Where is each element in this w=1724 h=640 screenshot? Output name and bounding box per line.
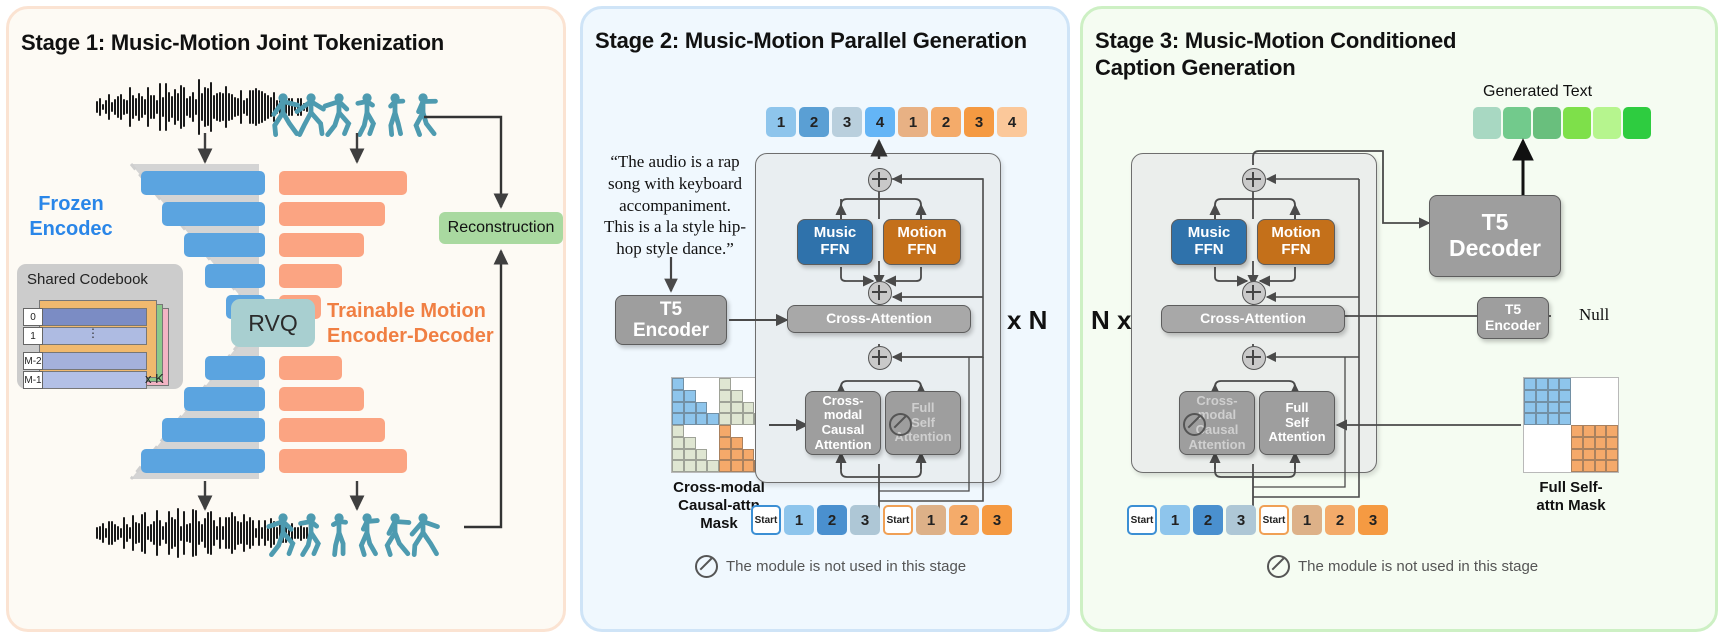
motion-token-bar xyxy=(279,264,342,288)
not-used-icon xyxy=(695,555,718,578)
motion-ffn-line2: FFN xyxy=(1281,241,1310,258)
mask-cell xyxy=(1524,449,1536,461)
stage1-panel: Stage 1: Music-Motion Joint Tokenization xyxy=(6,6,566,632)
generated-text-chip xyxy=(1473,107,1501,139)
generated-text-label: Generated Text xyxy=(1483,83,1592,101)
mask-cell xyxy=(684,390,696,402)
residual-add-mid xyxy=(1242,281,1266,305)
mask-caption-line2: attn Mask xyxy=(1483,497,1659,515)
token-chip: 1 xyxy=(766,107,796,137)
mask-cell xyxy=(707,437,719,449)
mask-cell xyxy=(1548,390,1560,402)
t5-decoder-block: T5 Decoder xyxy=(1429,195,1561,277)
mask-cell xyxy=(1571,437,1583,449)
music-waveform-bottom xyxy=(95,507,309,559)
fsa-line1: Full xyxy=(911,400,934,415)
token-chip: Start xyxy=(883,505,913,535)
cross-modal-causal-attention-block: Cross-modal Causal Attention xyxy=(805,391,881,455)
mask-cell xyxy=(672,425,684,437)
mask-cell xyxy=(1548,402,1560,414)
mask-cell xyxy=(1571,460,1583,472)
t5-encoder-line2: Encoder xyxy=(1485,317,1541,333)
mask-cell xyxy=(1583,425,1595,437)
mask-cell xyxy=(684,413,696,425)
mask-cell xyxy=(1559,413,1571,425)
mask-cell xyxy=(1595,437,1607,449)
t5-encoder-line2: Encoder xyxy=(633,320,709,341)
mask-cell xyxy=(1536,413,1548,425)
mask-cell xyxy=(1595,390,1607,402)
t5-encoder-line1: T5 xyxy=(1505,301,1521,317)
mask-cell xyxy=(1536,449,1548,461)
mask-cell xyxy=(1559,390,1571,402)
codebook-repeat-label: x K xyxy=(145,371,164,386)
mask-cell xyxy=(696,425,708,437)
fsa-line1: Full xyxy=(1285,400,1308,415)
mask-cell xyxy=(1606,449,1618,461)
mask-cell xyxy=(684,402,696,414)
trainable-motion-label: Trainable Motion Encoder-Decoder xyxy=(327,299,517,349)
mask-cell xyxy=(731,437,743,449)
t5-encoder-line1: T5 xyxy=(660,299,682,320)
cross-attention-block: Cross-Attention xyxy=(1161,305,1345,333)
t5-encoder-block: T5 Encoder xyxy=(615,295,727,345)
mask-cell xyxy=(1571,413,1583,425)
mask-cell xyxy=(1548,437,1560,449)
mask-cell xyxy=(696,413,708,425)
token-chip: 1 xyxy=(1160,505,1190,535)
motion-token-bar xyxy=(279,449,407,473)
codebook-ellipsis: ⋮ xyxy=(87,330,99,337)
codebook-index: 1 xyxy=(23,327,43,345)
t5-decoder-line2: Decoder xyxy=(1449,235,1541,261)
mask-cell xyxy=(731,390,743,402)
motion-token-bar xyxy=(279,418,385,442)
mask-cell xyxy=(1536,390,1548,402)
mask-cell xyxy=(684,378,696,390)
mask-cell xyxy=(1583,390,1595,402)
music-token-bar xyxy=(184,387,265,411)
mask-cell xyxy=(1524,437,1536,449)
token-chip: 1 xyxy=(898,107,928,137)
mask-cell xyxy=(1559,437,1571,449)
mask-cell xyxy=(672,378,684,390)
token-chip: Start xyxy=(1127,505,1157,535)
cross-modal-causal-mask xyxy=(671,377,767,473)
token-chip: Start xyxy=(1259,505,1289,535)
music-token-bar xyxy=(141,171,265,195)
mask-cell xyxy=(743,390,755,402)
mask-cell xyxy=(743,437,755,449)
mask-cell xyxy=(1559,460,1571,472)
mask-cell xyxy=(672,449,684,461)
residual-add-top xyxy=(868,168,892,192)
text-prompt-line: This is a la style hip- xyxy=(589,216,761,238)
mask-cell xyxy=(719,425,731,437)
mask-cell xyxy=(672,413,684,425)
token-chip: 3 xyxy=(850,505,880,535)
cmca-line3: Attention xyxy=(1188,437,1245,452)
token-chip: 1 xyxy=(916,505,946,535)
not-used-icon xyxy=(1183,413,1206,436)
mask-cell xyxy=(719,449,731,461)
stage1-title: Stage 1: Music-Motion Joint Tokenization xyxy=(21,29,444,56)
music-token-bar xyxy=(184,233,265,257)
mask-cell xyxy=(707,460,719,472)
mask-cell xyxy=(743,378,755,390)
mask-cell xyxy=(696,437,708,449)
mask-cell xyxy=(731,460,743,472)
motion-token-bar xyxy=(279,233,364,257)
mask-cell xyxy=(1571,402,1583,414)
figure-root: Stage 1: Music-Motion Joint Tokenization xyxy=(0,0,1724,640)
fsa-line2: Self xyxy=(911,415,935,430)
generated-text-chip-row xyxy=(1473,107,1651,139)
token-chip: 3 xyxy=(832,107,862,137)
mask-cell xyxy=(731,425,743,437)
mask-cell xyxy=(1571,378,1583,390)
mask-cell xyxy=(707,449,719,461)
mask-cell xyxy=(731,449,743,461)
music-ffn-line1: Music xyxy=(814,224,857,241)
mask-cell xyxy=(1524,402,1536,414)
reconstruction-block: Reconstruction xyxy=(439,212,563,244)
mask-cell xyxy=(1548,425,1560,437)
mask-cell xyxy=(743,425,755,437)
frozen-encodec-label: Frozen Encodec xyxy=(15,192,127,242)
stage2-title: Stage 2: Music-Motion Parallel Generatio… xyxy=(595,27,1027,54)
motion-token-bar xyxy=(279,387,364,411)
music-waveform-top xyxy=(95,79,309,135)
mask-cell xyxy=(707,413,719,425)
mask-cell xyxy=(719,378,731,390)
codebook-index: M-1 xyxy=(23,371,43,389)
generated-text-chip xyxy=(1593,107,1621,139)
full-self-attention-block: Full Self Attention xyxy=(1259,391,1335,455)
mask-cell xyxy=(1583,378,1595,390)
music-ffn-line2: FFN xyxy=(820,241,849,258)
t5-decoder-line1: T5 xyxy=(1482,209,1509,235)
mask-cell xyxy=(1595,378,1607,390)
text-prompt-line: song with keyboard xyxy=(589,173,761,195)
music-token-bar xyxy=(162,418,265,442)
token-chip: 2 xyxy=(799,107,829,137)
mask-cell xyxy=(1606,425,1618,437)
mask-cell xyxy=(707,402,719,414)
generated-text-chip xyxy=(1563,107,1591,139)
token-chip: 2 xyxy=(817,505,847,535)
mask-cell xyxy=(1571,390,1583,402)
mask-cell xyxy=(1583,437,1595,449)
fsa-line2: Self xyxy=(1285,415,1309,430)
mask-cell xyxy=(1548,413,1560,425)
token-chip: 2 xyxy=(1193,505,1223,535)
mask-cell xyxy=(1548,449,1560,461)
mask-cell xyxy=(672,390,684,402)
mask-cell xyxy=(1606,413,1618,425)
trainable-motion-label-line2: Encoder-Decoder xyxy=(327,324,517,349)
mask-cell xyxy=(1583,402,1595,414)
frozen-encodec-label-line1: Frozen xyxy=(15,192,127,217)
mask-cell xyxy=(1536,378,1548,390)
mask-cell xyxy=(743,402,755,414)
motion-token-bar xyxy=(279,356,342,380)
music-token-bar xyxy=(141,449,265,473)
motion-token-bar xyxy=(279,202,385,226)
mask-cell xyxy=(1536,460,1548,472)
token-chip: 3 xyxy=(1358,505,1388,535)
mask-cell xyxy=(719,460,731,472)
mask-cell xyxy=(684,425,696,437)
full-self-attn-mask xyxy=(1523,377,1619,473)
mask-cell xyxy=(1595,413,1607,425)
music-ffn-line1: Music xyxy=(1188,224,1231,241)
mask-cell xyxy=(696,460,708,472)
token-chip: 3 xyxy=(964,107,994,137)
generated-text-chip xyxy=(1623,107,1651,139)
codebook-entry xyxy=(41,308,147,326)
stage3-title-line2: Caption Generation xyxy=(1095,54,1515,81)
mask-cell xyxy=(684,437,696,449)
mask-cell xyxy=(696,449,708,461)
music-ffn-line2: FFN xyxy=(1194,241,1223,258)
mask-cell xyxy=(672,460,684,472)
mask-cell xyxy=(1536,425,1548,437)
stage3-title: Stage 3: Music-Motion Conditioned Captio… xyxy=(1095,27,1515,82)
token-chip: 2 xyxy=(1325,505,1355,535)
mask-cell xyxy=(1606,460,1618,472)
stage2-input-token-row: Start123Start123 xyxy=(751,505,1012,535)
mask-cell xyxy=(1571,449,1583,461)
mask-cell xyxy=(743,413,755,425)
mask-cell xyxy=(1559,402,1571,414)
token-chip: 2 xyxy=(949,505,979,535)
cmca-line3: Attention xyxy=(814,437,871,452)
stage3-repeat-label: N x xyxy=(1091,305,1131,336)
motion-ffn-line1: Motion xyxy=(1271,224,1320,241)
residual-add-mid xyxy=(868,281,892,305)
mask-cell xyxy=(1595,425,1607,437)
mask-cell xyxy=(1583,413,1595,425)
mask-cell xyxy=(1524,390,1536,402)
not-used-icon xyxy=(889,413,912,436)
t5-encoder-block: T5 Encoder xyxy=(1477,297,1549,339)
mask-cell xyxy=(731,378,743,390)
motion-token-bar xyxy=(279,171,407,195)
stage2-footnote-text: The module is not used in this stage xyxy=(726,558,966,575)
token-chip: 4 xyxy=(997,107,1027,137)
mask-cell xyxy=(1524,425,1536,437)
mask-cell xyxy=(707,425,719,437)
stage2-footnote: The module is not used in this stage xyxy=(695,555,966,578)
token-chip: Start xyxy=(751,505,781,535)
motion-ffn-line1: Motion xyxy=(897,224,946,241)
mask-cell xyxy=(707,378,719,390)
stage2-panel: Stage 2: Music-Motion Parallel Generatio… xyxy=(580,6,1070,632)
stage3-panel: Stage 3: Music-Motion Conditioned Captio… xyxy=(1080,6,1718,632)
stage3-input-token-row: Start123Start123 xyxy=(1127,505,1388,535)
mask-cell xyxy=(719,413,731,425)
mask-cell xyxy=(719,402,731,414)
mask-cell xyxy=(1524,460,1536,472)
mask-cell xyxy=(1536,402,1548,414)
fsa-line3: Attention xyxy=(1268,429,1325,444)
music-ffn-block: Music FFN xyxy=(797,219,873,265)
mask-cell xyxy=(1559,449,1571,461)
mask-cell xyxy=(719,390,731,402)
music-ffn-block: Music FFN xyxy=(1171,219,1247,265)
token-chip: 1 xyxy=(784,505,814,535)
mask-cell xyxy=(743,449,755,461)
mask-cell xyxy=(707,390,719,402)
mask-cell xyxy=(1595,402,1607,414)
stage3-title-line1: Stage 3: Music-Motion Conditioned xyxy=(1095,27,1515,54)
mask-cell xyxy=(1548,378,1560,390)
mask-cell xyxy=(696,402,708,414)
cmca-line1: Cross-modal xyxy=(822,393,863,423)
mask-cell xyxy=(1548,460,1560,472)
frozen-encodec-label-line2: Encodec xyxy=(15,217,127,242)
mask-cell xyxy=(1606,378,1618,390)
mask-cell xyxy=(1606,437,1618,449)
motion-ffn-block: Motion FFN xyxy=(1257,219,1335,265)
mask-cell xyxy=(684,449,696,461)
music-token-bar xyxy=(205,356,265,380)
motion-ffn-block: Motion FFN xyxy=(883,219,961,265)
text-prompt-line: “The audio is a rap xyxy=(589,151,761,173)
not-used-icon xyxy=(1267,555,1290,578)
token-chip: 3 xyxy=(1226,505,1256,535)
mask-cell xyxy=(1524,413,1536,425)
mask-cell xyxy=(672,437,684,449)
mask-cell xyxy=(1583,449,1595,461)
full-self-attn-mask-caption: Full Self- attn Mask xyxy=(1483,479,1659,515)
text-prompt-line: accompaniment. xyxy=(589,195,761,217)
cross-attention-block: Cross-Attention xyxy=(787,305,971,333)
generated-text-chip xyxy=(1533,107,1561,139)
mask-cell xyxy=(743,460,755,472)
mask-cell xyxy=(1559,425,1571,437)
cmca-line2: Causal xyxy=(822,422,865,437)
trainable-motion-label-line1: Trainable Motion xyxy=(327,299,517,324)
residual-add-top xyxy=(1242,168,1266,192)
residual-add-bottom xyxy=(1242,346,1266,370)
mask-cell xyxy=(1559,378,1571,390)
music-token-bar xyxy=(162,202,265,226)
mask-cell xyxy=(1536,437,1548,449)
text-prompt-line: hop style dance.” xyxy=(589,238,761,260)
mask-cell xyxy=(696,378,708,390)
stage2-repeat-label: x N xyxy=(1007,305,1047,336)
mask-cell xyxy=(684,460,696,472)
mask-cell xyxy=(1524,378,1536,390)
codebook-entry xyxy=(41,371,147,389)
residual-add-bottom xyxy=(868,346,892,370)
motion-ffn-line2: FFN xyxy=(907,241,936,258)
text-prompt: “The audio is a rapsong with keyboardacc… xyxy=(589,151,761,260)
mask-cell xyxy=(1571,425,1583,437)
mask-cell xyxy=(731,402,743,414)
codebook-index: 0 xyxy=(23,308,43,326)
mask-cell xyxy=(672,402,684,414)
mask-cell xyxy=(1606,402,1618,414)
mask-cell xyxy=(1606,390,1618,402)
stage3-footnote-text: The module is not used in this stage xyxy=(1298,558,1538,575)
null-condition-label: Null xyxy=(1579,305,1609,325)
token-chip: 2 xyxy=(931,107,961,137)
mask-cell xyxy=(719,437,731,449)
token-chip: 4 xyxy=(865,107,895,137)
music-token-bar xyxy=(205,264,265,288)
mask-caption-line1: Full Self- xyxy=(1483,479,1659,497)
stage3-footnote: The module is not used in this stage xyxy=(1267,555,1538,578)
codebook-index: M-2 xyxy=(23,352,43,370)
mask-cell xyxy=(1595,449,1607,461)
codebook-entry xyxy=(41,352,147,370)
mask-cell xyxy=(731,413,743,425)
token-chip: 3 xyxy=(982,505,1012,535)
mask-cell xyxy=(1583,460,1595,472)
mask-cell xyxy=(1595,460,1607,472)
stage2-output-token-row: 12341234 xyxy=(766,107,1027,137)
generated-text-chip xyxy=(1503,107,1531,139)
rvq-block: RVQ xyxy=(231,299,315,347)
token-chip: 1 xyxy=(1292,505,1322,535)
mask-cell xyxy=(696,390,708,402)
